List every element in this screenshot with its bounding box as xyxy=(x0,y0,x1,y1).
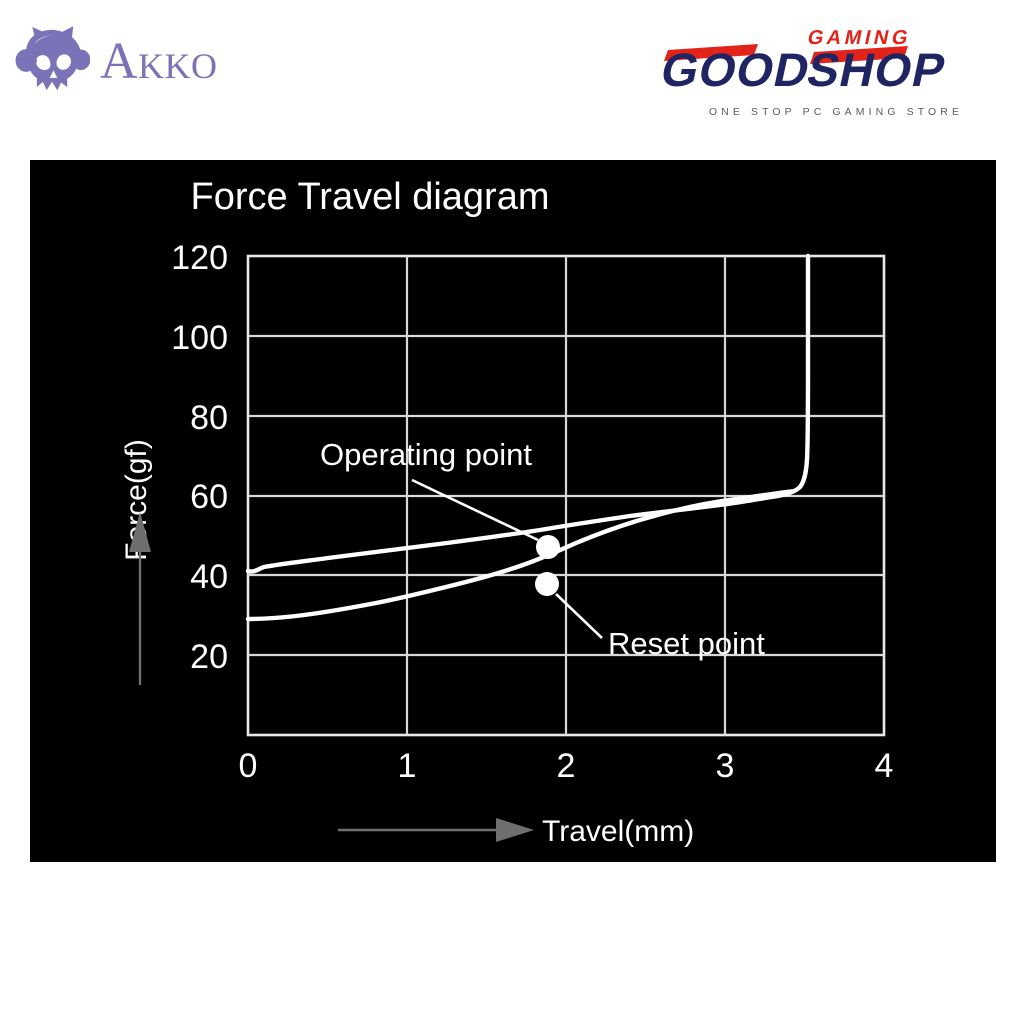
y-axis-title-group: Force(gf) xyxy=(120,439,153,685)
release-stroke-curve xyxy=(248,491,794,619)
force-travel-plot: 120 100 80 60 40 20 0 1 2 3 4 Force(gf) … xyxy=(30,160,996,862)
skull-cat-headphones-icon xyxy=(14,26,90,98)
x-tick-3: 3 xyxy=(716,747,735,785)
reset-point-annotation: Reset point xyxy=(535,572,765,661)
y-tick-120: 120 xyxy=(171,239,228,277)
reset-point-marker xyxy=(535,572,559,596)
force-travel-chart-panel: Force Travel diagram 120 100 80 60 40 20 xyxy=(30,160,996,862)
operating-point-label: Operating point xyxy=(320,437,532,472)
x-axis-title: Travel(mm) xyxy=(542,815,694,848)
branding-header: Akko .gs-navy { fill:#1f2463; } .gs-red … xyxy=(0,0,1024,160)
y-tick-100: 100 xyxy=(171,319,228,357)
x-tick-labels: 0 1 2 3 4 xyxy=(239,747,894,785)
x-tick-2: 2 xyxy=(557,747,576,785)
y-tick-40: 40 xyxy=(190,558,228,596)
goodshop-shop-text: SHOP xyxy=(802,44,950,96)
y-tick-20: 20 xyxy=(190,638,228,676)
x-axis-arrow-icon xyxy=(496,818,534,842)
akko-wordmark: Akko xyxy=(100,36,218,88)
x-tick-1: 1 xyxy=(398,747,417,785)
goodshop-brand: .gs-navy { fill:#1f2463; } .gs-red { fil… xyxy=(662,22,1002,122)
x-tick-0: 0 xyxy=(239,747,258,785)
y-tick-60: 60 xyxy=(190,478,228,516)
goodshop-tagline: ONE STOP PC GAMING STORE xyxy=(670,106,1002,118)
x-tick-4: 4 xyxy=(875,747,894,785)
x-axis-title-group: Travel(mm) xyxy=(338,815,694,848)
y-tick-labels: 120 100 80 60 40 20 xyxy=(171,239,228,676)
goodshop-good-text: GOOD xyxy=(662,44,815,96)
operating-point-marker xyxy=(536,535,560,559)
y-tick-80: 80 xyxy=(190,399,228,437)
reset-point-label: Reset point xyxy=(608,626,765,661)
akko-brand: Akko xyxy=(14,26,218,98)
operating-point-annotation: Operating point xyxy=(320,437,560,559)
